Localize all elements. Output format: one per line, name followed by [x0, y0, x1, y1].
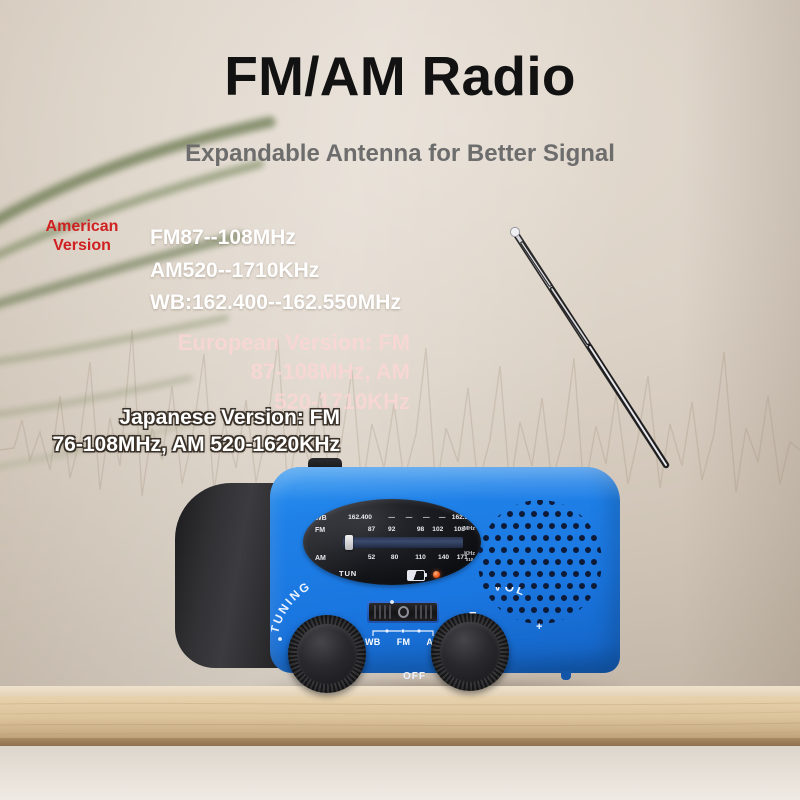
fm-tick-2: 98	[417, 526, 424, 533]
band-label-wb: WB	[303, 515, 337, 522]
tune-indicator-dot	[325, 573, 329, 577]
am-unit: KHz x10	[464, 552, 475, 562]
am-tick-1: 80	[391, 554, 398, 561]
shelf-grain	[0, 696, 800, 742]
volume-plus-label: +	[536, 621, 542, 633]
dial-band-wb: WB 162.400 — — — — 162.550	[303, 513, 481, 523]
lower-wall	[0, 746, 800, 800]
product-banner: FM/AM Radio Expandable Antenna for Bette…	[0, 0, 800, 800]
american-version-label: American Version	[17, 218, 147, 256]
japanese-version-text: Japanese Version: FM 76-108MHz, AM 520-1…	[10, 404, 340, 459]
battery-icon	[407, 570, 425, 581]
volume-knob-label: VOL	[463, 587, 559, 639]
radio-body-highlight	[270, 467, 620, 501]
am-tick-2: 110	[415, 554, 426, 561]
dial-band-am: AM 52 80 110 140 171 KHz x10	[303, 553, 481, 563]
fm-tick-3: 102	[432, 526, 443, 533]
volume-label-text: VOL	[494, 587, 529, 599]
european-version-text: European Version: FM 87-108MHz, AM 520-1…	[100, 328, 410, 416]
volume-minus-label: −	[469, 605, 477, 620]
fm-unit: MHz	[464, 526, 476, 532]
wb-tick-4: —	[439, 514, 446, 521]
wb-tick-3: —	[423, 514, 430, 521]
wb-tick-1: —	[388, 514, 395, 521]
svg-text:TUNING: TUNING	[271, 581, 314, 635]
dial-band-fm: FM 87 92 98 102 108 MHz	[303, 525, 481, 535]
japanese-line-1: Japanese Version: FM	[10, 404, 340, 431]
wb-tick-0: 162.400	[348, 514, 372, 521]
american-version-label-line1: American	[17, 218, 147, 237]
dial-slider-knob[interactable]	[345, 535, 353, 550]
radio-foot-right	[561, 671, 571, 680]
tune-label: TUN	[339, 569, 357, 578]
am-tick-0: 52	[368, 554, 375, 561]
dial-slider-track	[343, 537, 463, 548]
shelf-lip	[0, 738, 800, 746]
american-version-label-line2: Version	[17, 237, 147, 256]
am-scale: 52 80 110 140 171 KHz x10	[337, 553, 481, 563]
power-led-icon	[433, 571, 440, 578]
frequency-dial[interactable]: WB 162.400 — — — — 162.550 FM 87 92 98 1…	[303, 499, 481, 585]
band-label-fm: FM	[303, 527, 337, 534]
am-unit-bottom: x10	[464, 558, 475, 562]
european-line-2: 87-108MHz, AM	[100, 357, 410, 386]
off-label: OFF	[403, 671, 426, 682]
tuning-knob-label: TUNING	[271, 581, 401, 651]
am-tick-3: 140	[438, 554, 449, 561]
page-title: FM/AM Radio	[0, 44, 800, 108]
band-label-am: AM	[303, 555, 337, 562]
page-subtitle: Expandable Antenna for Better Signal	[0, 140, 800, 168]
wb-tick-2: —	[406, 514, 413, 521]
wb-scale: 162.400 — — — — 162.550	[337, 513, 481, 523]
fm-scale: 87 92 98 102 108 MHz	[337, 525, 481, 535]
svg-text:VOL: VOL	[494, 587, 529, 599]
fm-tick-0: 87	[368, 526, 375, 533]
fm-tick-1: 92	[388, 526, 395, 533]
european-line-1: European Version: FM	[100, 328, 410, 357]
wb-tick-5: 162.550	[452, 514, 476, 521]
telescopic-antenna	[470, 215, 680, 470]
radio-product: WB 162.400 — — — — 162.550 FM 87 92 98 1…	[175, 455, 635, 700]
tuning-label-text: TUNING	[271, 581, 314, 635]
